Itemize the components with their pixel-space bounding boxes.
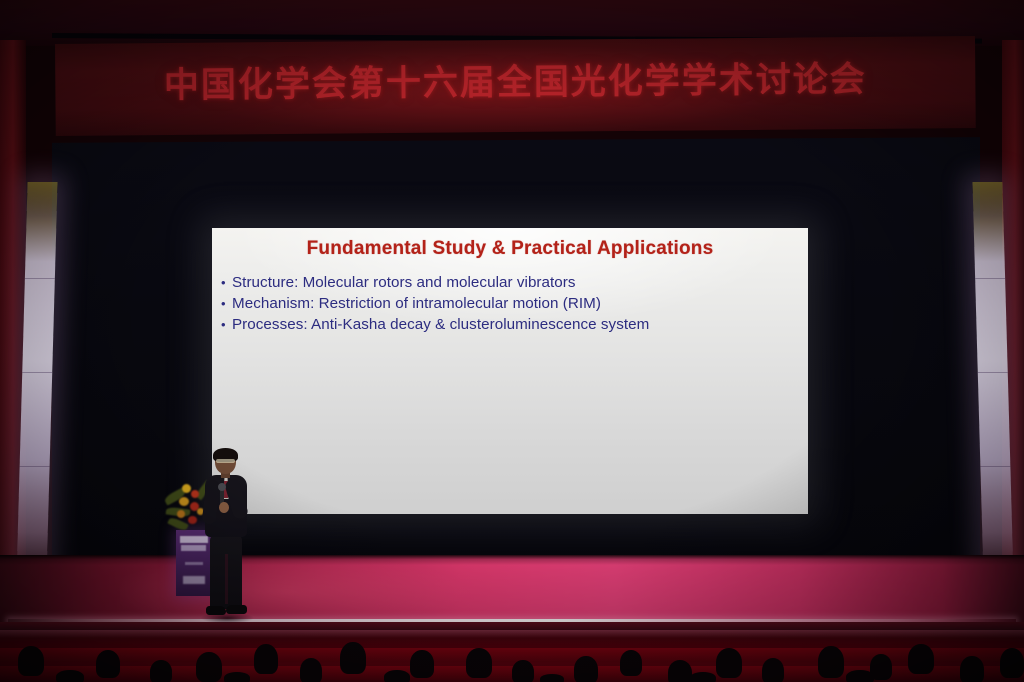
panel-seam [978,372,1008,373]
audience-head [1000,648,1024,678]
bullet-dot-icon: • [221,315,232,335]
audience-head [540,674,564,682]
audience-head [384,670,410,682]
flower-bloom [179,497,189,506]
flower-bloom [177,510,185,518]
speaker-figure [196,450,256,622]
audience-area [0,630,1024,682]
foliage-leaf [167,516,188,532]
audience-head [762,658,784,682]
slide-bullet-text: Structure: Molecular rotors and molecula… [232,273,794,293]
speaker-hand [219,502,229,513]
projection-screen: Fundamental Study & Practical Applicatio… [212,228,808,514]
panel-seam [975,278,1005,279]
glasses-icon [216,459,235,463]
panel-warm-glow [27,182,58,216]
audience-head [150,660,172,682]
slide-bullet-text: Processes: Anti-Kasha decay & clusterolu… [232,315,794,335]
conference-stage-photo: 中国化学会第十六届全国光化学学术讨论会 Fundamental Study & … [0,0,1024,682]
slide-title: Fundamental Study & Practical Applicatio… [212,238,808,260]
audience-head [196,652,222,682]
audience-head [716,648,742,678]
audience-head [56,670,84,682]
audience-head [300,658,322,682]
flower-bloom [182,484,191,493]
audience-head [410,650,434,678]
panel-seam [22,372,52,373]
audience-head [818,646,844,678]
audience-head [908,644,934,674]
speaker-shoe-left [206,606,226,615]
banner-title-text: 中国化学会第十六届全国光化学学术讨论会 [55,55,975,111]
panel-seam [25,278,55,279]
slide-bullet-item: • Processes: Anti-Kasha decay & clustero… [221,315,794,335]
audience-head [224,672,250,682]
slide-bullet-item: • Mechanism: Restriction of intramolecul… [221,294,794,314]
speaker-shoe-right [226,605,247,614]
audience-head [574,656,598,682]
panel-seam [20,466,50,467]
audience-head [96,650,120,678]
audience-head [960,656,984,682]
audience-head [846,670,874,682]
audience-head [620,650,642,676]
audience-head [18,646,44,676]
speaker-leg-gap [225,554,228,604]
audience-head [512,660,534,682]
slide-bullet-item: • Structure: Molecular rotors and molecu… [221,273,794,293]
audience-head [690,672,716,682]
panel-seam [980,466,1010,467]
audience-head [340,642,366,674]
bullet-dot-icon: • [221,294,232,314]
audience-head [668,660,692,682]
bullet-dot-icon: • [221,273,232,293]
conference-banner: 中国化学会第十六届全国光化学学术讨论会 [55,36,976,136]
audience-head [254,644,278,674]
audience-rim-light [0,630,1024,638]
microphone-head-icon [218,483,226,491]
slide-bullet-list: • Structure: Molecular rotors and molecu… [221,273,794,336]
audience-head [466,648,492,678]
slide-bullet-text: Mechanism: Restriction of intramolecular… [232,294,794,314]
panel-warm-glow [972,182,1003,216]
